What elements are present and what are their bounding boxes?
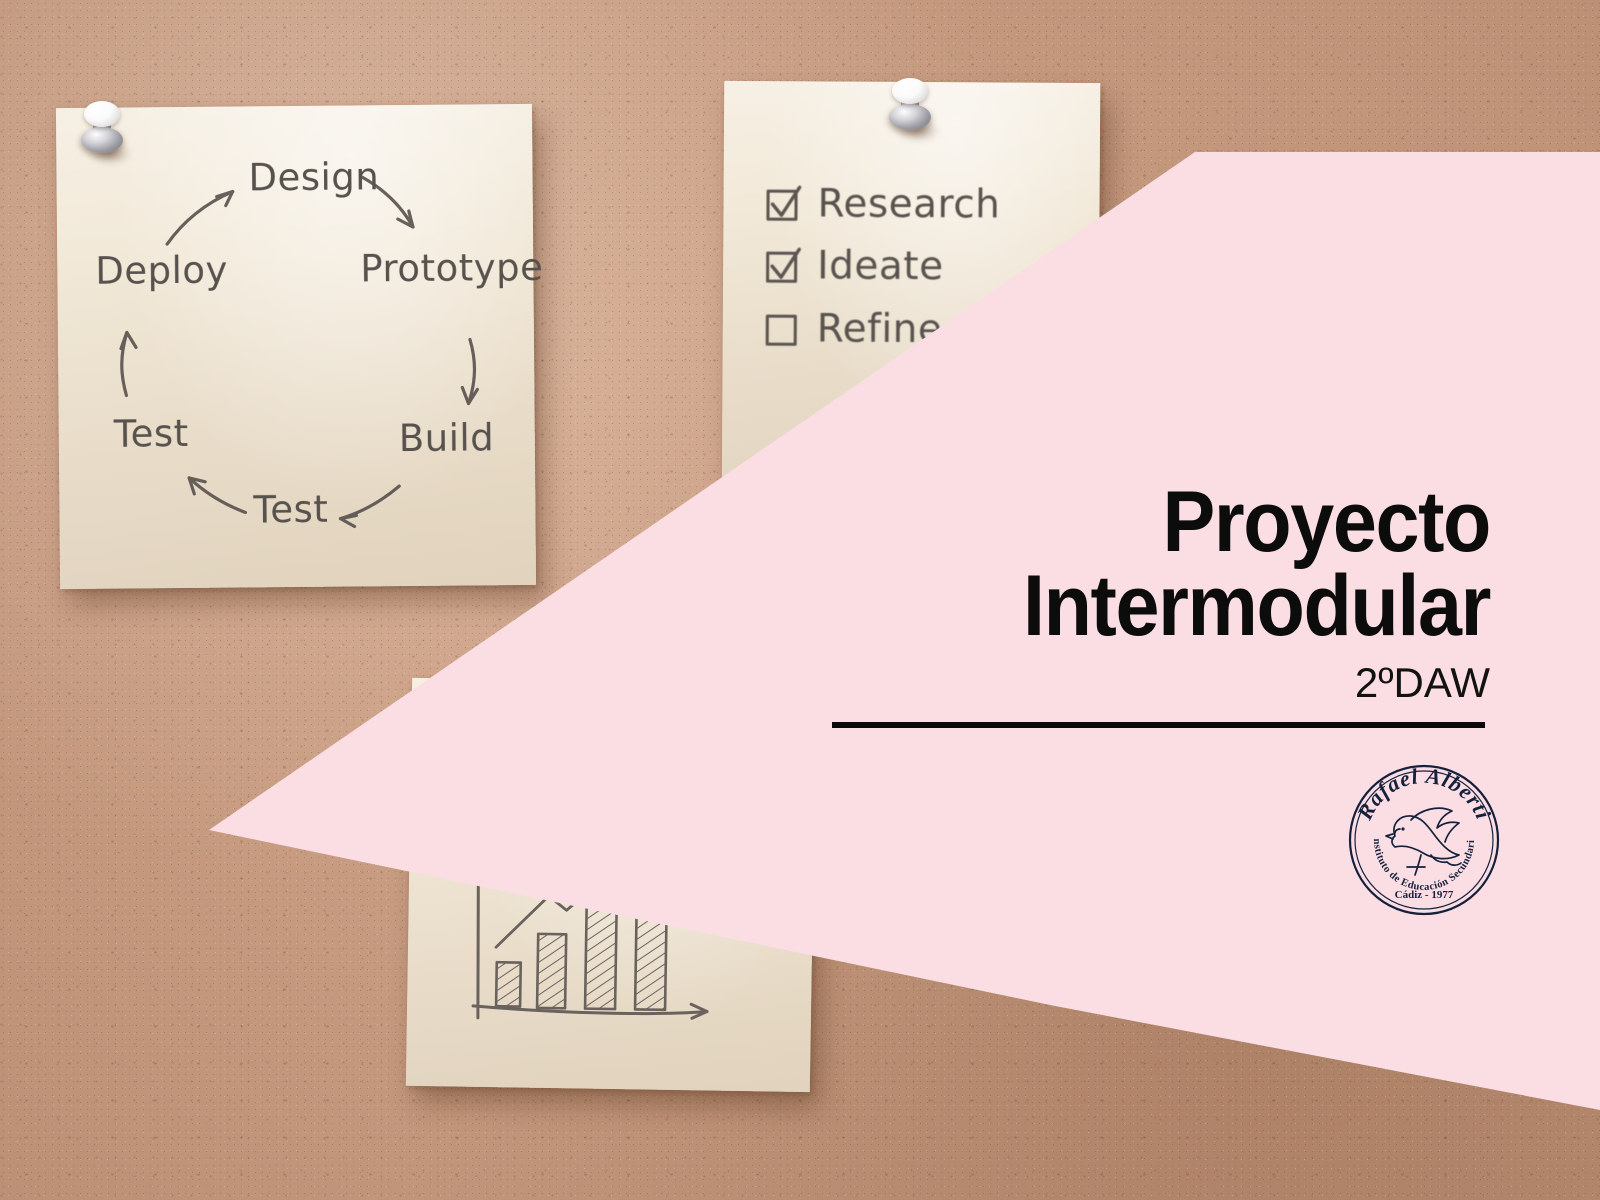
checklist-item: Research bbox=[765, 181, 1000, 227]
checkbox-empty-icon bbox=[765, 312, 799, 346]
cycle-step-design: Design bbox=[248, 155, 379, 199]
title-block: Proyecto Intermodular 2ºDAW bbox=[700, 480, 1490, 707]
checkbox-checked-icon bbox=[765, 187, 799, 221]
checklist-label-research: Research bbox=[817, 181, 1000, 227]
cycle-step-deploy: Deploy bbox=[95, 249, 228, 293]
seal-location-year: Cádiz - 1977 bbox=[1395, 889, 1454, 901]
cycle-step-test-left: Test bbox=[114, 412, 189, 456]
checklist-label-ideate: Ideate bbox=[817, 243, 944, 289]
cycle-step-build: Build bbox=[399, 416, 495, 460]
title-divider bbox=[832, 722, 1485, 728]
dove-icon bbox=[1386, 808, 1461, 875]
checkbox-checked-icon bbox=[765, 249, 799, 283]
school-seal-logo: Rafael Alberti Instituto de Educación Se… bbox=[1347, 763, 1501, 917]
page-title-line-1: Proyecto bbox=[763, 480, 1490, 564]
page-title-line-2: Intermodular bbox=[763, 564, 1490, 648]
sticky-note-design-cycle: Design Prototype Build Test Test Deploy bbox=[56, 104, 536, 589]
page-subtitle: 2ºDAW bbox=[700, 659, 1490, 707]
slide-canvas: Design Prototype Build Test Test Deploy … bbox=[0, 0, 1600, 1200]
cycle-step-prototype: Prototype bbox=[360, 246, 543, 291]
cycle-step-test-bottom: Test bbox=[253, 488, 328, 532]
checklist-item: Ideate bbox=[765, 243, 944, 289]
